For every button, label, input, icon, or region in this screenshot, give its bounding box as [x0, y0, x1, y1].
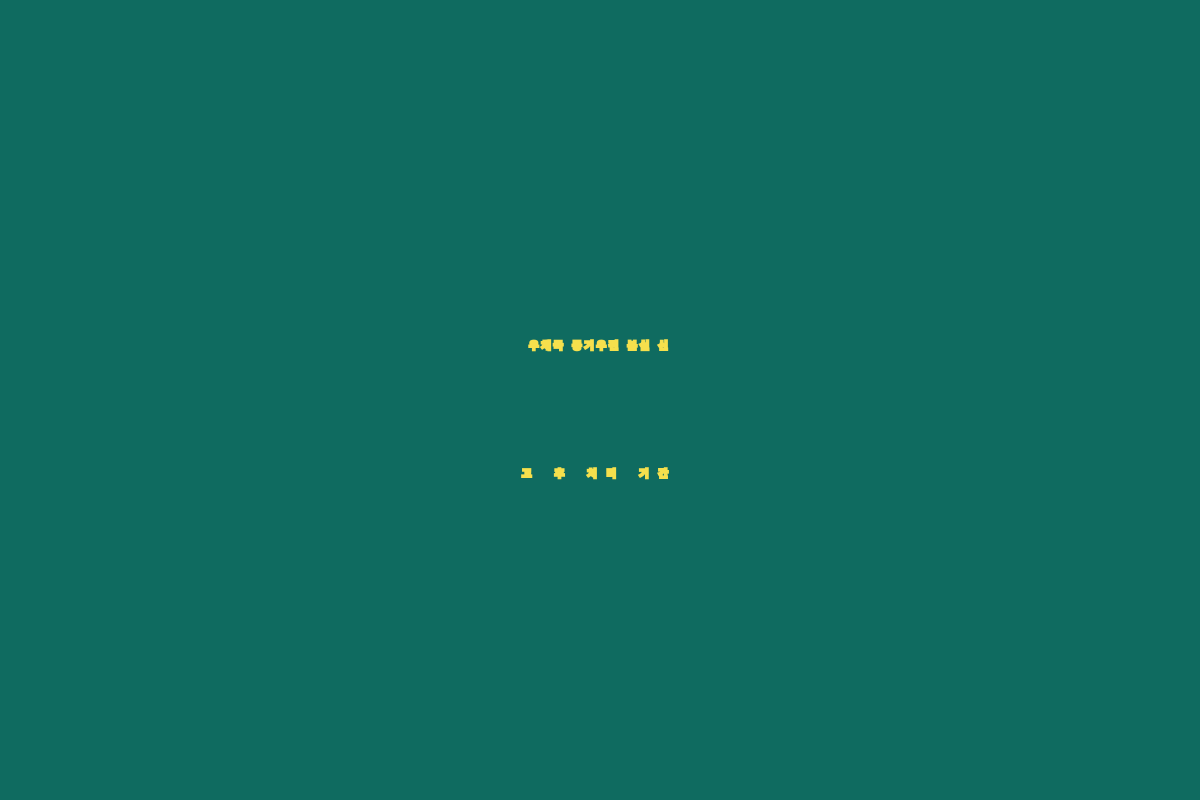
headline-line-1: 우체국 등기우편 분실 신: [50, 283, 1150, 411]
headline-block: 우체국 등기우편 분실 신 고 후 처리 기간: [0, 0, 1200, 800]
headline-line-2: 고 후 처리 기간: [50, 411, 1150, 539]
banner-canvas: 우체국 등기우편 분실 신 고 후 처리 기간: [0, 0, 1200, 800]
